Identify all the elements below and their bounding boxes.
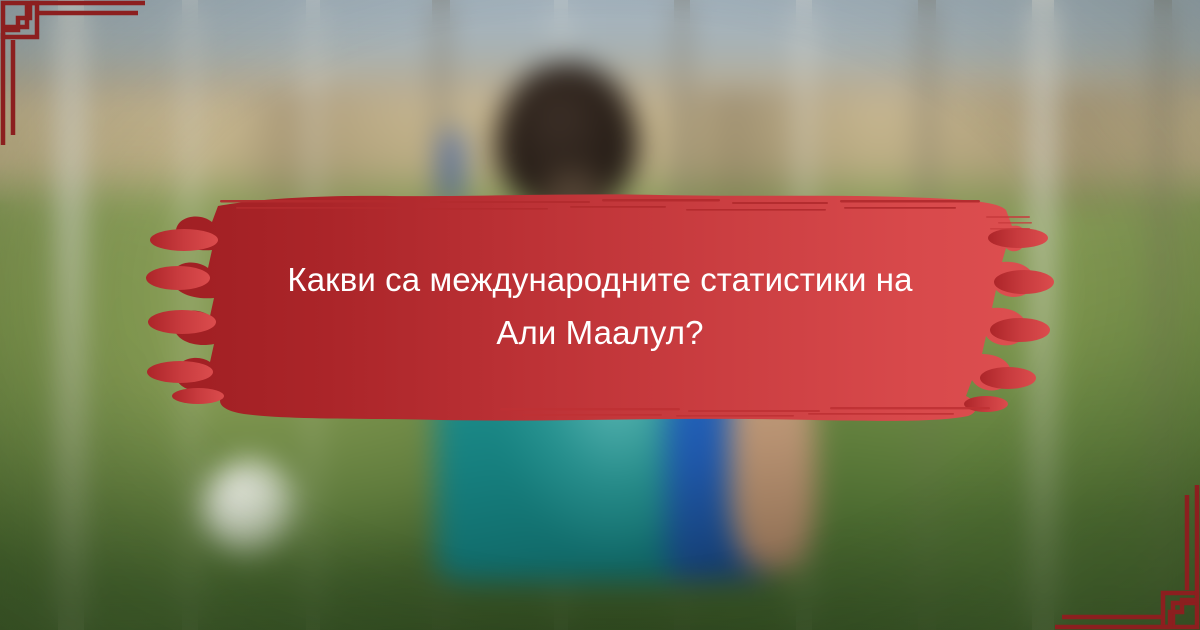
corner-ornament-top-left <box>0 0 160 160</box>
goal-post-upright <box>58 0 84 630</box>
sky-region <box>0 0 1200 190</box>
corner-ornament-bottom-right <box>1040 470 1200 630</box>
title-line-1: Какви са международните статистики на <box>287 253 912 306</box>
football <box>202 460 298 556</box>
share-card: Какви са международните статистики на Ал… <box>0 0 1200 630</box>
title-line-2: Али Маалул? <box>496 306 703 359</box>
goal-post-upright <box>1154 0 1172 630</box>
title-text-block: Какви са международните статистики на Ал… <box>200 182 1000 430</box>
